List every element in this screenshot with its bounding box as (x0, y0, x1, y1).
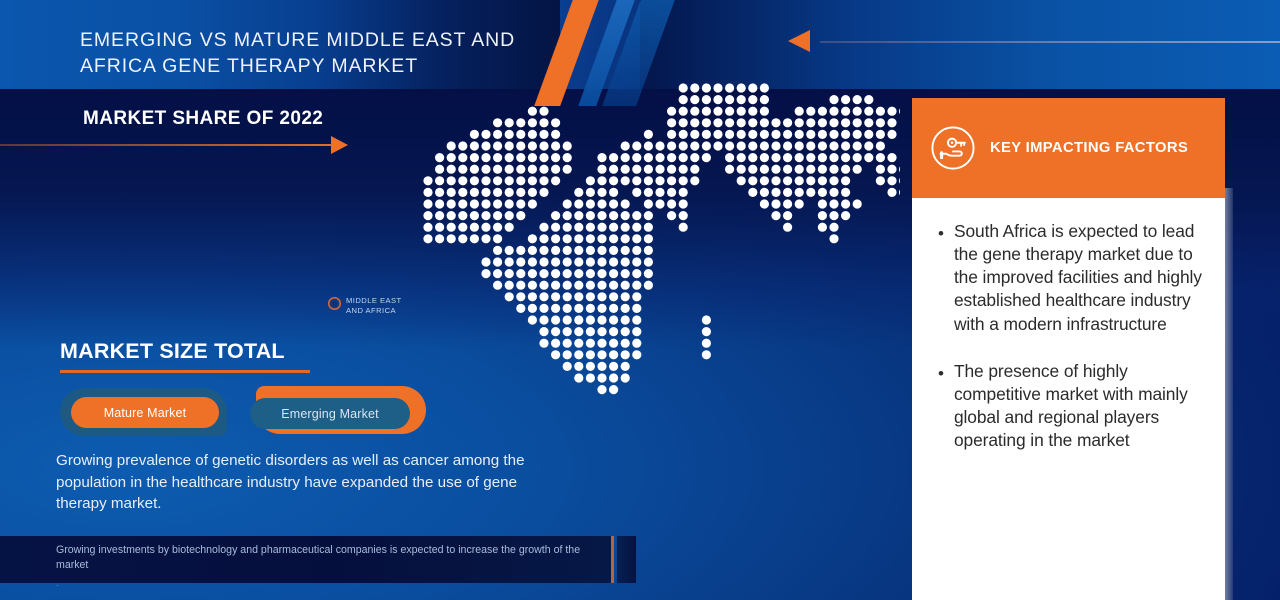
arrow-right-icon (331, 136, 348, 154)
dotted-world-map (420, 82, 900, 502)
footer-note-band-secondary (617, 536, 636, 583)
infographic-root: EMERGING VS MATURE MIDDLE EAST AND AFRIC… (0, 0, 1280, 600)
market-share-header: MARKET SHARE OF 2022 (0, 108, 360, 164)
market-size-description: Growing prevalence of genetic disorders … (56, 450, 526, 515)
panel-drop-shadow (1225, 188, 1233, 600)
legend-pill-emerging-market[interactable]: Emerging Market (250, 398, 410, 429)
page-title: EMERGING VS MATURE MIDDLE EAST AND AFRIC… (80, 28, 550, 79)
market-share-rule (0, 144, 335, 146)
target-marker-icon (328, 297, 341, 310)
header-band-right (640, 0, 1280, 89)
market-legend-group: Mature Market Emerging Market (60, 386, 480, 438)
market-size-title: MARKET SIZE TOTAL (60, 339, 285, 364)
list-item: • The presence of highly competitive mar… (938, 360, 1209, 453)
panel-header: KEY IMPACTING FACTORS (912, 98, 1225, 198)
footer-note-text: Growing investments by biotechnology and… (56, 543, 586, 573)
map-legend-label: MIDDLE EAST AND AFRICA (346, 296, 402, 316)
hand-holding-key-icon (930, 125, 976, 171)
bullet-marker-icon: • (938, 365, 944, 453)
map-legend: MIDDLE EAST AND AFRICA (328, 296, 402, 316)
header-arrow-line (820, 41, 1280, 43)
arrow-left-icon (788, 30, 810, 52)
panel-bullet-list: • South Africa is expected to lead the g… (912, 198, 1225, 476)
legend-pill-mature-market[interactable]: Mature Market (71, 397, 219, 428)
bullet-text: The presence of highly competitive marke… (954, 360, 1209, 453)
panel-title: KEY IMPACTING FACTORS (990, 140, 1188, 156)
footer-note-accent-line (611, 536, 614, 583)
list-item: • South Africa is expected to lead the g… (938, 220, 1209, 336)
key-impacting-factors-panel: KEY IMPACTING FACTORS • South Africa is … (912, 98, 1225, 600)
market-size-rule (60, 370, 310, 373)
bullet-marker-icon: • (938, 225, 944, 336)
bullet-text: South Africa is expected to lead the gen… (954, 220, 1209, 336)
market-share-label: MARKET SHARE OF 2022 (83, 108, 323, 130)
footer-note-mark: . (56, 578, 59, 588)
